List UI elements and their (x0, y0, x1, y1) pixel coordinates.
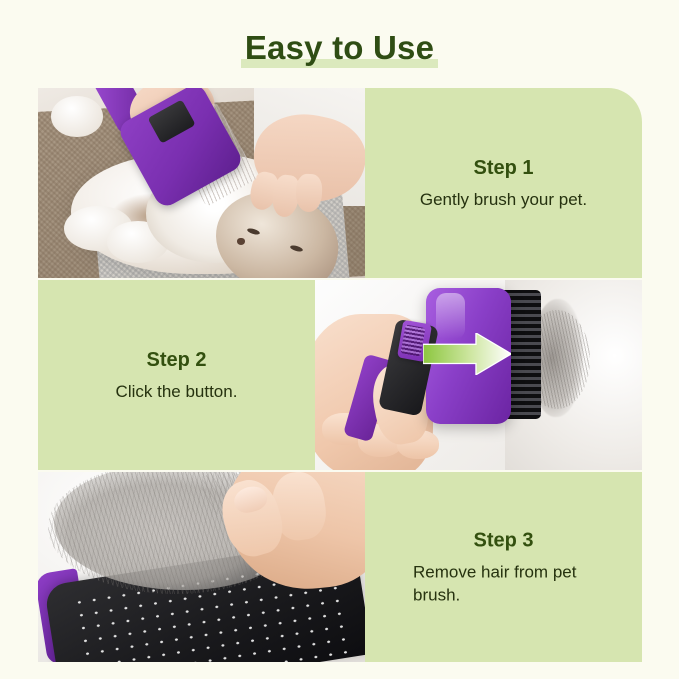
step-1-text-panel: Step 1 Gently brush your pet. (365, 88, 642, 278)
step-2-heading: Step 2 (60, 347, 293, 373)
step-3-photo (38, 472, 365, 662)
page-title-text: Easy to Use (245, 29, 434, 66)
photo-fur-removal (38, 472, 365, 662)
step-3-description: Remove hair from pet brush. (387, 561, 620, 607)
step-row-1: Step 1 Gently brush your pet. (38, 88, 642, 278)
page-title-inner: Easy to Use (241, 26, 438, 70)
step-2-photo (315, 280, 642, 470)
step-1-text-block: Step 1 Gently brush your pet. (365, 155, 642, 211)
page-title: Easy to Use (0, 26, 679, 78)
instruction-arrow-icon (423, 333, 511, 375)
step-row-2: Step 2 Click the button. (38, 280, 642, 470)
step-2-text-panel: Step 2 Click the button. (38, 280, 315, 470)
step-row-3: Step 3 Remove hair from pet brush. (38, 472, 642, 662)
step-2-description: Click the button. (60, 380, 293, 403)
step-3-text-panel: Step 3 Remove hair from pet brush. (365, 472, 642, 662)
step-3-text-block: Step 3 Remove hair from pet brush. (365, 528, 642, 607)
photo-cat-brushing (38, 88, 365, 278)
step-2-text-block: Step 2 Click the button. (38, 347, 315, 403)
step-3-heading: Step 3 (387, 528, 620, 554)
step-1-photo (38, 88, 365, 278)
photo-brush-button (315, 280, 642, 470)
step-1-heading: Step 1 (387, 155, 620, 181)
brush-body-highlight (436, 293, 465, 339)
step-1-description: Gently brush your pet. (387, 188, 620, 211)
steps-grid: Step 1 Gently brush your pet. Step 2 Cli… (38, 88, 642, 650)
